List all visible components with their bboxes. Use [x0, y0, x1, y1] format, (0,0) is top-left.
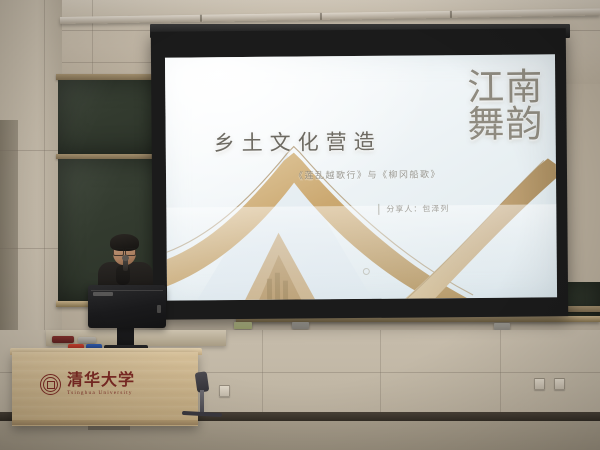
wall-seam: [500, 330, 501, 412]
university-logo: 清华大学 Tsinghua University: [40, 372, 135, 396]
monitor-brand-logo: [93, 292, 113, 296]
slide-title-line2: 舞韵: [467, 105, 543, 143]
eraser-green[interactable]: [234, 322, 252, 329]
lecture-hall-photo: 江南 舞韵 乡土文化营造 《莲乱越歌行》与《柳冈船歌》 分享人：包泽列: [0, 0, 600, 450]
left-wall-shadow: [0, 120, 18, 350]
podium-bottom-edge: [12, 420, 198, 425]
slide-decorative-dot: [363, 268, 370, 275]
wall-seam: [0, 248, 62, 249]
university-name-cn: 清华大学: [67, 372, 135, 388]
wall-seam: [92, 0, 93, 84]
slide-presenter-credit: 分享人：包泽列: [378, 203, 449, 215]
tsinghua-seal-icon: [40, 374, 61, 395]
monitor-power-button[interactable]: [157, 305, 161, 313]
university-name-en: Tsinghua University: [67, 390, 135, 396]
power-outlet-podium[interactable]: [219, 385, 230, 397]
power-outlet-left[interactable]: [534, 378, 545, 390]
projected-slide: 江南 舞韵 乡土文化营造 《莲乱越歌行》与《柳冈船歌》 分享人：包泽列: [165, 54, 557, 300]
wall-seam: [0, 150, 62, 151]
wall-seam: [262, 330, 263, 412]
slide-title-line1: 江南: [467, 68, 543, 106]
eraser-gray[interactable]: [292, 322, 309, 329]
slide-subtitle: 乡土文化营造: [214, 126, 382, 157]
slide-main-title: 江南 舞韵: [467, 68, 544, 143]
wall-seam: [44, 0, 45, 340]
desk-item-red[interactable]: [52, 336, 74, 343]
eraser-gray[interactable]: [494, 323, 510, 330]
microphone-head: [122, 255, 129, 261]
projection-screen-frame: 江南 舞韵 乡土文化营造 《莲乱越歌行》与《柳冈船歌》 分享人：包泽列: [151, 28, 568, 320]
wall-seam: [380, 330, 381, 412]
lectern-monitor[interactable]: [88, 285, 166, 328]
desk-item-white[interactable]: [78, 337, 96, 343]
slide-works-line: 《莲乱越歌行》与《柳冈船歌》: [294, 167, 441, 181]
power-outlet-right[interactable]: [554, 378, 565, 390]
eyeglasses-icon: [112, 248, 137, 254]
